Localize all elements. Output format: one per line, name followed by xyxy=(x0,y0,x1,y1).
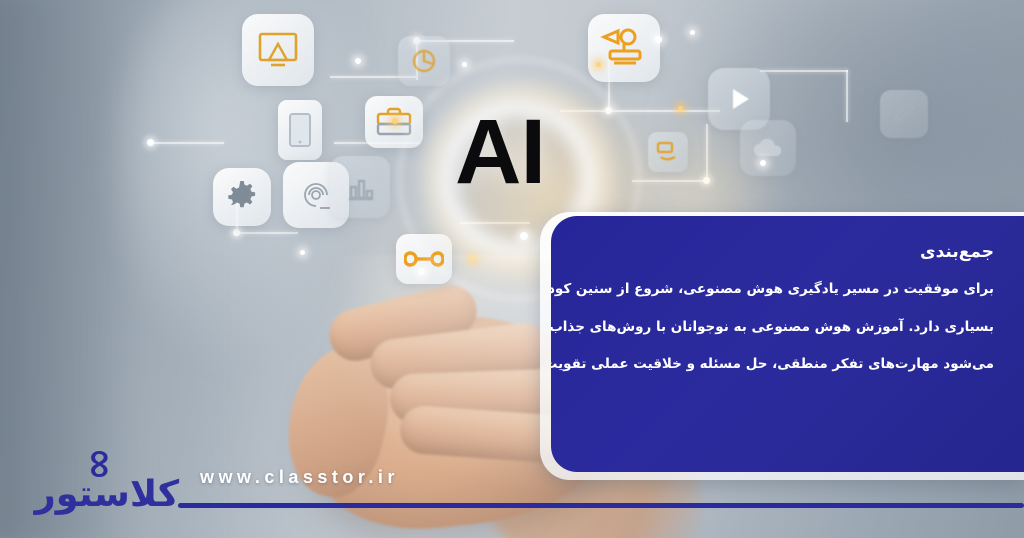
pie-chart-icon[interactable] xyxy=(398,36,450,86)
edit-icon[interactable] xyxy=(880,90,928,138)
summary-title: جمع‌بندی xyxy=(581,242,994,262)
connector-line xyxy=(608,110,720,112)
connector-line xyxy=(706,124,708,182)
summary-body: برای موفقیت در مسیر یادگیری هوش مصنوعی، … xyxy=(581,280,994,373)
url-underline xyxy=(178,503,1024,508)
sparkle xyxy=(690,30,695,35)
robot-network-icon[interactable] xyxy=(588,14,660,82)
chart-icon[interactable] xyxy=(330,156,390,218)
ai-hero-text: AI xyxy=(455,106,545,198)
brand-wordmark: کلاستور xyxy=(35,476,180,514)
site-url[interactable]: www.classtor.ir xyxy=(200,467,399,488)
gear-icon[interactable] xyxy=(213,168,271,226)
banner-canvas: AI جمع‌بندی برای موفقیت در مسیر یادگیری … xyxy=(0,0,1024,538)
connector-node xyxy=(703,177,710,184)
sparkle xyxy=(392,118,398,124)
connector-line xyxy=(632,180,708,182)
connector-node xyxy=(233,229,240,236)
connector-line xyxy=(760,70,848,72)
tablet-icon[interactable] xyxy=(278,100,322,160)
sparkle xyxy=(655,36,662,43)
connector-line xyxy=(236,232,298,234)
summary-panel: جمع‌بندی برای موفقیت در مسیر یادگیری هوش… xyxy=(551,216,1024,472)
brand-logo[interactable]: ∞ کلاستور xyxy=(36,446,204,510)
connector-line xyxy=(846,70,848,122)
connector-line xyxy=(150,142,224,144)
sparkle xyxy=(300,250,305,255)
sparkle xyxy=(462,62,467,67)
connector-node xyxy=(147,139,154,146)
presentation-icon[interactable] xyxy=(242,14,314,86)
summary-line: برای موفقیت در مسیر یادگیری هوش مصنوعی، … xyxy=(581,280,994,298)
cloud-icon[interactable] xyxy=(740,120,796,176)
summary-line: بسیاری دارد. آموزش هوش مصنوعی به نوجوانا… xyxy=(581,318,994,336)
sparkle xyxy=(596,62,601,67)
sparkle xyxy=(678,106,683,111)
sparkle xyxy=(418,268,425,275)
summary-line: می‌شود مهارت‌های تفکر منطقی، حل مسئله و … xyxy=(581,355,994,373)
money-hand-icon[interactable] xyxy=(648,132,688,172)
sparkle xyxy=(355,58,361,64)
sparkle xyxy=(760,160,766,166)
